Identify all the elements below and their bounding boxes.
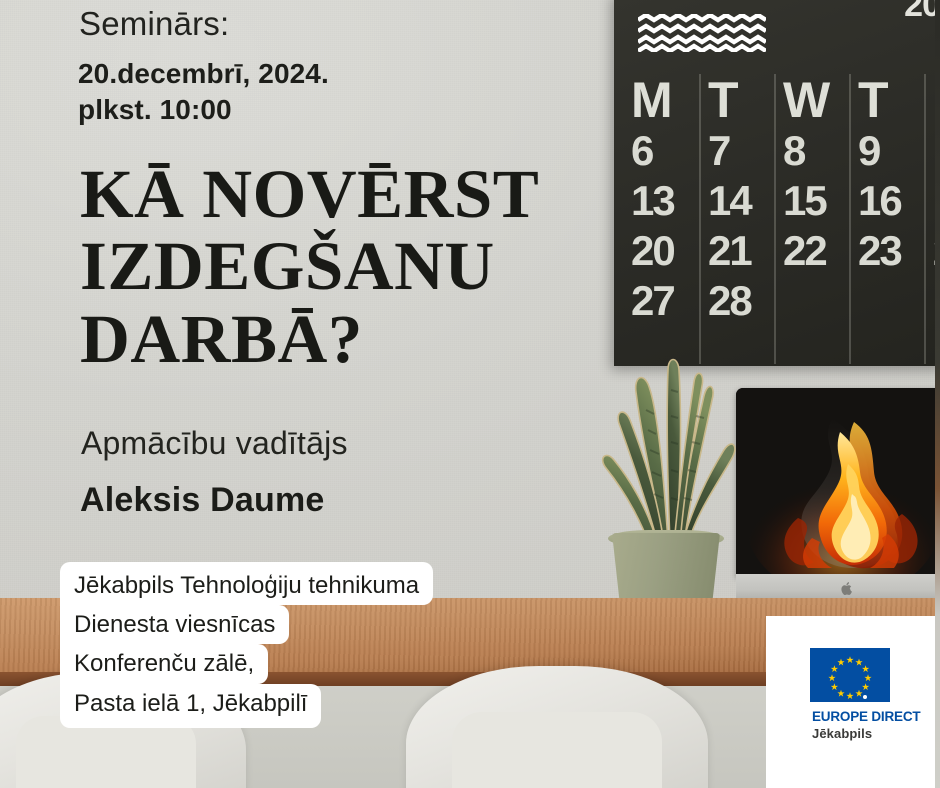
kicker-label: Seminārs: xyxy=(79,5,229,43)
calendar-day: 9 xyxy=(858,126,924,176)
calendar-dow: W xyxy=(783,74,849,126)
trainer-name: Aleksis Daume xyxy=(80,481,325,520)
eu-flag-icon xyxy=(810,648,890,702)
calendar-day: 23 xyxy=(858,226,924,276)
calendar-day: 13 xyxy=(631,176,699,226)
calendar-day: 28 xyxy=(708,276,774,326)
trainer-role-label: Apmācību vadītājs xyxy=(81,425,348,462)
calendar-dow: T xyxy=(858,74,924,126)
address-line: Pasta ielā 1, Jēkabpilī xyxy=(60,684,321,728)
right-edge-strip xyxy=(935,0,940,788)
calendar-column: W 8 15 22 xyxy=(774,74,849,364)
date-line: 20.decembrī, 2024. xyxy=(78,56,508,92)
chair-right-seat xyxy=(452,712,662,788)
address-line: Jēkabpils Tehnoloģiju tehnikuma xyxy=(60,562,433,605)
calendar-day: 6 xyxy=(631,126,699,176)
calendar-grid: M 6 13 20 27 T 7 14 21 28 W 8 15 22 T xyxy=(624,74,940,364)
monitor-screen xyxy=(736,388,940,576)
calendar-dow: T xyxy=(708,74,774,126)
imac-monitor xyxy=(736,388,940,612)
calendar-day: 27 xyxy=(631,276,699,326)
calendar-day: 21 xyxy=(708,226,774,276)
calendar-poster: 20 M 6 13 20 27 T 7 14 21 28 xyxy=(614,0,940,366)
page-title: KĀ NOVĒRST IZDEGŠANU DARBĀ? xyxy=(80,158,620,375)
logo-main-text: EUROPE DIRECT xyxy=(812,709,920,724)
calendar-day: 20 xyxy=(631,226,699,276)
logo-sub-text: Jēkabpils xyxy=(812,726,872,741)
calendar-day: 16 xyxy=(858,176,924,226)
apple-logo-icon xyxy=(840,581,853,596)
calendar-day: 7 xyxy=(708,126,774,176)
address-block: Jēkabpils Tehnoloģiju tehnikuma Dienesta… xyxy=(60,562,433,728)
calendar-dow: M xyxy=(631,74,699,126)
date-time-block: 20.decembrī, 2024. plkst. 10:00 xyxy=(78,56,508,128)
address-line: Dienesta viesnīcas xyxy=(60,605,289,644)
calendar-column: M 6 13 20 27 xyxy=(624,74,699,364)
europe-direct-logo: EUROPE DIRECT Jēkabpils xyxy=(766,616,935,788)
calendar-day: 14 xyxy=(708,176,774,226)
calendar-column: T 7 14 21 28 xyxy=(699,74,774,364)
eu-stars-icon xyxy=(810,648,890,702)
calendar-day: 8 xyxy=(783,126,849,176)
calendar-column: T 9 16 23 xyxy=(849,74,924,364)
time-line: plkst. 10:00 xyxy=(78,92,508,128)
address-line: Konferenču zālē, xyxy=(60,644,268,683)
flame-image xyxy=(736,388,940,576)
calendar-day: 22 xyxy=(783,226,849,276)
calendar-day: 15 xyxy=(783,176,849,226)
zigzag-pattern-icon xyxy=(638,14,766,52)
seminar-poster: 20 M 6 13 20 27 T 7 14 21 28 xyxy=(0,0,940,788)
